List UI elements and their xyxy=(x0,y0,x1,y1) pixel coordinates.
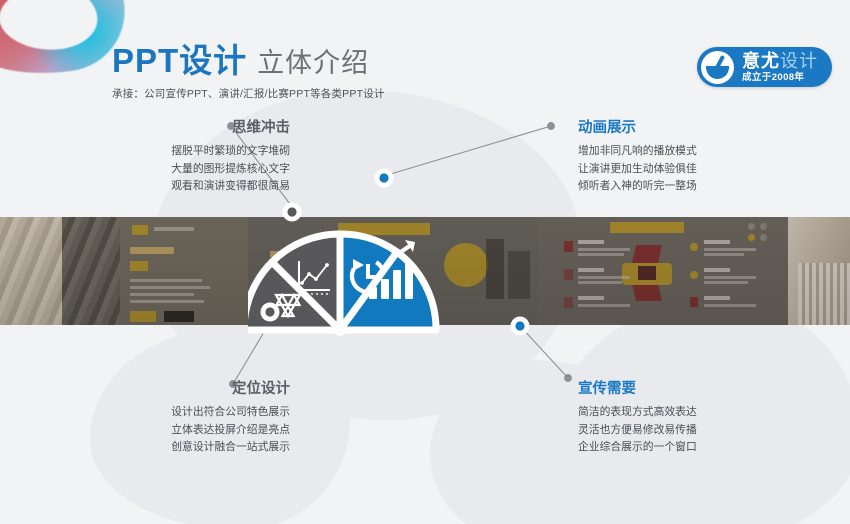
page-subtitle: 承接：公司宣传PPT、演讲/汇报/比赛PPT等各类PPT设计 xyxy=(112,86,385,101)
title-sub: 立体介绍 xyxy=(257,48,369,78)
callout-top-right: 动画展示 增加非同凡响的播放模式 让演讲更加生动体验俱佳 倾听者入神的听完一整场 xyxy=(578,120,793,196)
slide-canvas: PPT设计立体介绍 承接：公司宣传PPT、演讲/汇报/比赛PPT等各类PPT设计… xyxy=(0,0,850,524)
logo-name-bold: 意尤 xyxy=(742,51,780,71)
callout-line: 大量的图形提炼核心文字 xyxy=(75,161,290,178)
callout-body: 设计出符合公司特色展示 立体表达投屏介绍是亮点 创意设计融合一站式展示 xyxy=(75,404,290,456)
callout-line: 简洁的表现方式高效表达 xyxy=(578,404,793,421)
node-dot[interactable] xyxy=(283,203,302,222)
callout-line: 摆脱平时繁琐的文字堆砌 xyxy=(75,143,290,160)
callout-line: 创意设计融合一站式展示 xyxy=(75,439,290,456)
logo-established: 成立于2008年 xyxy=(742,73,818,83)
node-dot[interactable] xyxy=(261,303,280,322)
callout-bottom-right: 宣传需要 简洁的表现方式高效表达 灵活也方便易修改易传播 企业综合展示的一个窗口 xyxy=(578,381,793,457)
semicircle-diagram[interactable] xyxy=(248,160,543,340)
logo-name-dim: 设计 xyxy=(780,51,818,71)
callout-line: 观看和演讲变得都很简易 xyxy=(75,178,290,195)
logo-name: 意尤设计 xyxy=(742,52,818,70)
callout-line: 立体表达投屏介绍是亮点 xyxy=(75,422,290,439)
callout-body: 摆脱平时繁琐的文字堆砌 大量的图形提炼核心文字 观看和演讲变得都很简易 xyxy=(75,143,290,195)
brand-logo[interactable]: 意尤设计 成立于2008年 xyxy=(697,47,832,87)
node-dot[interactable] xyxy=(511,317,530,336)
pen-circle-icon xyxy=(701,51,734,84)
callout-line: 倾听者入神的听完一整场 xyxy=(578,178,793,195)
callout-heading: 宣传需要 xyxy=(578,381,793,398)
node-dot[interactable] xyxy=(375,169,394,188)
callout-line: 增加非同凡响的播放模式 xyxy=(578,143,793,160)
callout-line: 企业综合展示的一个窗口 xyxy=(578,439,793,456)
page-title: PPT设计立体介绍 xyxy=(112,44,385,77)
callout-heading: 动画展示 xyxy=(578,120,793,137)
title-main: PPT设计 xyxy=(112,42,247,79)
callout-body: 增加非同凡响的播放模式 让演讲更加生动体验俱佳 倾听者入神的听完一整场 xyxy=(578,143,793,195)
callout-top-left: 思维冲击 摆脱平时繁琐的文字堆砌 大量的图形提炼核心文字 观看和演讲变得都很简易 xyxy=(75,120,290,196)
callout-line: 让演讲更加生动体验俱佳 xyxy=(578,161,793,178)
callout-heading: 定位设计 xyxy=(75,381,290,398)
callout-heading: 思维冲击 xyxy=(75,120,290,137)
callout-bottom-left: 定位设计 设计出符合公司特色展示 立体表达投屏介绍是亮点 创意设计融合一站式展示 xyxy=(75,381,290,457)
callout-line: 灵活也方便易修改易传播 xyxy=(578,422,793,439)
callout-line: 设计出符合公司特色展示 xyxy=(75,404,290,421)
callout-body: 简洁的表现方式高效表达 灵活也方便易修改易传播 企业综合展示的一个窗口 xyxy=(578,404,793,456)
page-header: PPT设计立体介绍 承接：公司宣传PPT、演讲/汇报/比赛PPT等各类PPT设计 xyxy=(112,44,385,101)
